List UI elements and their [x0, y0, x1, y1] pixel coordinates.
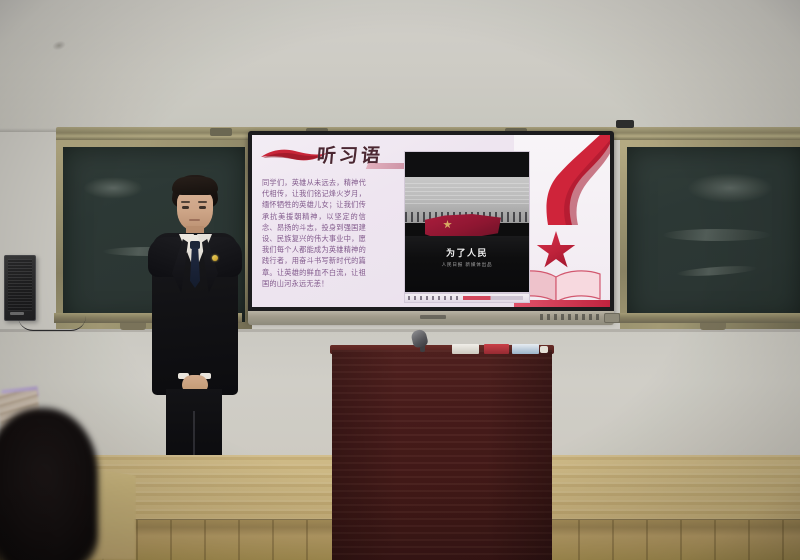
small-white-item: [540, 346, 548, 353]
rail-bracket: [210, 128, 232, 136]
smart-whiteboard-display[interactable]: 听习语 同学们，英雄从未远去，精神代代相传，让我们铭记烽火岁月，缅怀牺牲的英雄儿…: [252, 135, 610, 307]
speaker-cable: [18, 316, 86, 331]
audience-member-head: [0, 408, 98, 560]
presenter-tie-knot: [190, 241, 200, 249]
presenter-fringe: [172, 177, 218, 195]
video-haze: [405, 183, 529, 205]
presenter-eye: [182, 206, 189, 209]
presenter-eyebrow: [181, 201, 190, 203]
video-playback-controls[interactable]: [404, 293, 530, 303]
white-box: [452, 344, 479, 354]
right-blackboard-panel[interactable]: [620, 140, 800, 329]
board-sensor-icon: [616, 120, 634, 128]
wall-seam: [0, 329, 800, 332]
bezel-control-keys[interactable]: [540, 314, 600, 320]
speaker-brand-label: [10, 312, 24, 315]
red-ribbon-banner-icon: [528, 135, 610, 225]
chalk-tray: [618, 313, 800, 323]
lapel-pin-badge-icon: [212, 255, 218, 261]
presenter-eye: [199, 206, 206, 209]
speaker-mesh: [8, 259, 32, 311]
blue-box: [512, 344, 539, 354]
video-control-icons[interactable]: [408, 296, 460, 300]
video-letterbox-top: [405, 152, 529, 177]
brand-logo: [420, 315, 446, 319]
embedded-video-player[interactable]: 为了人民 人民日报 新媒体出品: [404, 151, 530, 293]
video-overlay-subtitle: 人民日报 新媒体出品: [405, 262, 529, 268]
red-box: [484, 344, 509, 354]
tray-tab: [700, 323, 726, 330]
slide-body-text: 同学们，英雄从未远去，精神代代相传，让我们铭记烽火岁月，缅怀牺牲的英雄儿女；让我…: [262, 177, 366, 289]
slide-title-group: 听习语: [259, 139, 419, 173]
chalk-streak: [663, 229, 771, 241]
upper-wall: [0, 0, 800, 132]
presentation-slide[interactable]: 听习语 同学们，英雄从未远去，精神代代相传，让我们铭记烽火岁月，缅怀牺牲的英雄儿…: [252, 135, 610, 307]
presenter-necktie: [190, 248, 200, 288]
chalk-smudge: [687, 173, 773, 203]
wooden-lectern[interactable]: [332, 350, 552, 560]
presenter-mouth: [189, 219, 200, 221]
classroom-photo-scene: 听习语 同学们，英雄从未远去，精神代代相传，让我们铭记烽火岁月，缅怀牺牲的英雄儿…: [0, 0, 800, 560]
video-progress-bar[interactable]: [463, 296, 523, 300]
wall-mounted-speaker: [4, 255, 36, 321]
chalk-smudge: [83, 177, 143, 199]
video-overlay-title: 为了人民: [405, 246, 529, 259]
lectern-shading: [332, 350, 552, 560]
presenter-eyebrow: [198, 201, 207, 203]
power-button[interactable]: [604, 313, 620, 323]
wall-scuff-mark: [51, 39, 67, 52]
chalk-streak: [677, 264, 757, 278]
